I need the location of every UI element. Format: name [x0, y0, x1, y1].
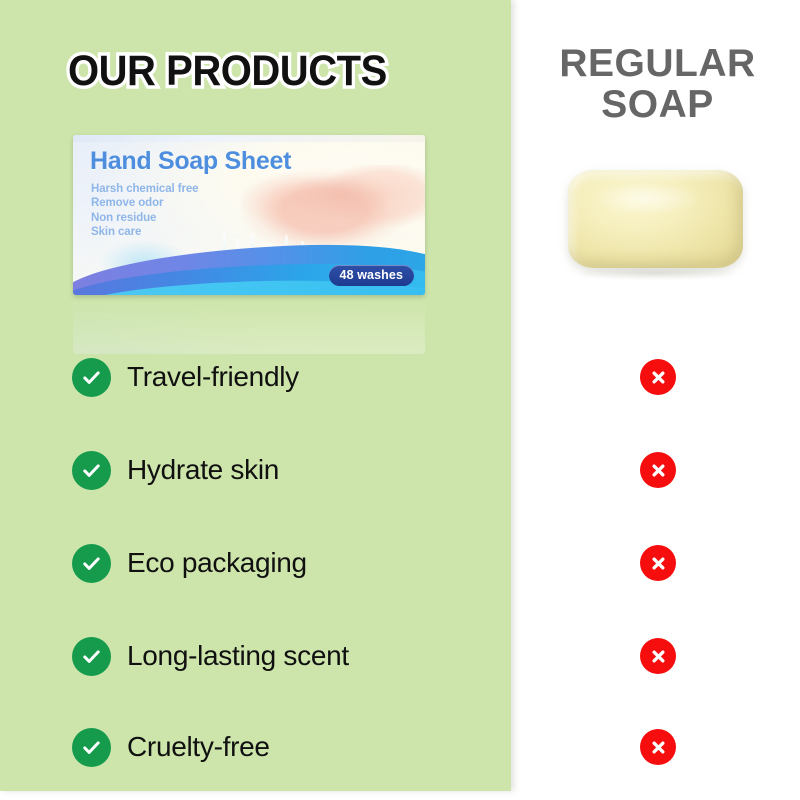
feature-label: Hydrate skin [127, 454, 279, 486]
page-title-regular-soap: REGULAR SOAP [515, 44, 800, 126]
feature-label: Eco packaging [127, 547, 307, 579]
feature-label: Travel-friendly [127, 361, 299, 393]
feature-label: Long-lasting scent [127, 640, 349, 672]
cross-icon [640, 452, 676, 488]
package-bullet: Harsh chemical free [91, 182, 198, 196]
feature-row: Cruelty-free [72, 725, 270, 769]
package-product-name: Hand Soap Sheet [90, 147, 291, 176]
package-bullet: Non residue [91, 211, 198, 225]
soap-shadow [572, 266, 740, 280]
cross-icon [640, 545, 676, 581]
hand-shading [265, 171, 415, 227]
check-icon [72, 728, 111, 767]
cross-icon [640, 638, 676, 674]
check-icon [72, 637, 111, 676]
feature-row: Hydrate skin [72, 448, 279, 492]
regular-soap-title-line2: SOAP [515, 85, 800, 126]
washes-count-badge: 48 washes [329, 265, 414, 286]
package-bullet: Remove odor [91, 196, 198, 210]
product-package-box: Hand Soap Sheet Harsh chemical free Remo… [73, 135, 425, 295]
package-top-stripe [73, 135, 425, 142]
feature-row: Long-lasting scent [72, 634, 349, 678]
regular-soap-title-line1: REGULAR [515, 44, 800, 85]
package-bullet: Skin care [91, 225, 198, 239]
cross-icon [640, 729, 676, 765]
feature-label: Cruelty-free [127, 731, 270, 763]
check-icon [72, 544, 111, 583]
package-bullet-list: Harsh chemical free Remove odor Non resi… [91, 182, 198, 240]
check-icon [72, 358, 111, 397]
feature-row: Eco packaging [72, 541, 307, 585]
regular-soap-bar [568, 170, 743, 268]
cross-icon [640, 359, 676, 395]
check-icon [72, 451, 111, 490]
page-title-our-products: OUR PRODUCTS [68, 50, 387, 93]
product-package-image: Hand Soap Sheet Harsh chemical free Remo… [73, 135, 425, 295]
feature-row: Travel-friendly [72, 355, 299, 399]
comparison-infographic: OUR PRODUCTS REGULAR SOAP Hand Soap Shee… [0, 0, 800, 800]
soap-highlight [593, 182, 702, 215]
